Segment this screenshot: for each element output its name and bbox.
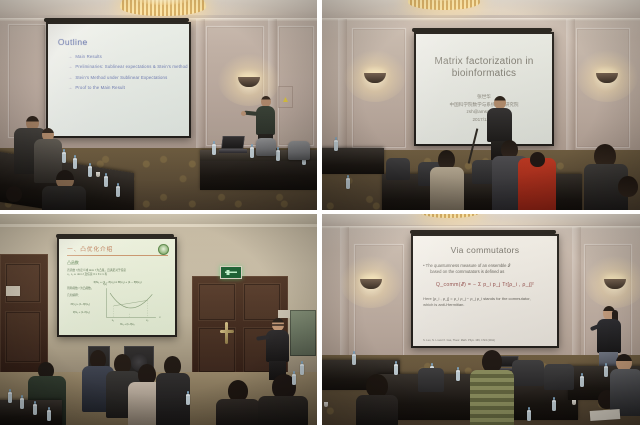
- slide-title: Via commutators: [423, 245, 547, 255]
- audience-member: [430, 150, 464, 210]
- graph-x-axis-label: x: [159, 316, 160, 319]
- water-bottle-icon: [73, 158, 77, 169]
- slide-bullet-text: Preliminaries: Sublinear expectations & …: [75, 64, 187, 69]
- chandelier-core: [421, 0, 467, 1]
- audience-member: [216, 380, 260, 425]
- water-bottle-icon: [527, 410, 531, 421]
- audience-member: [42, 170, 86, 210]
- audience-body: [42, 186, 86, 210]
- photo-panel-bottom-left[interactable]: 一、凸优化介绍 凸函数 若函数 f 的定义域 dom f 为凸集，且满足对于任意…: [0, 214, 317, 425]
- presenter-body: [256, 106, 275, 135]
- slide-subtitle: 凸函数: [67, 260, 168, 266]
- door-panel: [199, 328, 235, 372]
- audience-head: [6, 186, 22, 202]
- wall-sconce-icon: [594, 68, 620, 82]
- audience-member: [518, 152, 556, 210]
- slide-equation: Q_comm(𝓔) = − Σ p_i p_j Tr[ρ_i , ρ_j]²: [423, 282, 547, 289]
- photo-panel-top-left[interactable]: Outline →Main Results →Preliminaries: Su…: [0, 0, 317, 210]
- audience-member: [156, 356, 190, 425]
- audience-body: [470, 370, 514, 425]
- presenter-body: [266, 330, 289, 362]
- slide-bullet-text: Proof to the Main Result: [75, 85, 125, 90]
- arrow-icon: →: [68, 85, 72, 90]
- graph-tick-label: x₁: [112, 319, 114, 322]
- water-bottle-icon: [250, 147, 254, 158]
- laptop-screen: [221, 136, 245, 149]
- emergency-exit-sign-icon: [220, 266, 242, 279]
- water-bottle-icon: [20, 398, 24, 409]
- cup-icon: [572, 400, 576, 405]
- presenter-hand: [241, 111, 246, 116]
- water-bottle-icon: [186, 394, 190, 405]
- graph-point-label: θf(x₁) + (1−θ)f(x₂): [71, 303, 90, 306]
- ceiling-moulding: [322, 226, 640, 229]
- audience-head: [530, 152, 545, 167]
- conference-chair: [386, 158, 410, 180]
- water-bottle-icon: [580, 376, 584, 387]
- ceiling-moulding: [0, 224, 317, 227]
- graph-y-axis-label: f(x): [103, 283, 107, 286]
- arrow-icon: →: [68, 54, 72, 59]
- door-panel: [6, 264, 40, 302]
- slide-bullet: →Preliminaries: Sublinear expectations &…: [68, 64, 179, 69]
- laptop-icon: [222, 136, 244, 153]
- wall-sconce-icon: [602, 274, 628, 288]
- door-panel: [244, 284, 280, 320]
- slide-body-line: x₁, x₂ ∈ dom f 及任意 0 ≤ θ ≤ 1 有: [67, 273, 168, 277]
- water-bottle-icon: [212, 144, 216, 155]
- screen-surface: Outline →Main Results →Preliminaries: Su…: [48, 24, 189, 136]
- convex-curve-svg: [98, 287, 158, 323]
- audience-member: [0, 186, 36, 210]
- slide-bullet: →Main Results: [68, 54, 179, 59]
- ballroom-scene-matrix: Matrix factorization in bioinformatics 张…: [322, 0, 640, 210]
- slide-citation: S. Luo, N. Li and X. Cao, Theor. Math. P…: [423, 339, 495, 342]
- door-handle-icon: [225, 322, 228, 344]
- audience-body: [216, 399, 260, 425]
- audience-body: [258, 396, 308, 425]
- ballroom-scene-outline: Outline →Main Results →Preliminaries: Su…: [0, 0, 317, 210]
- arrow-icon: →: [68, 75, 72, 80]
- conference-table: [322, 148, 384, 174]
- water-bottle-icon: [47, 410, 51, 421]
- audience-body: [156, 373, 190, 425]
- audience-body: [430, 167, 464, 210]
- ballroom-scene-commutators: Via commutators • The quantumness measur…: [322, 214, 640, 425]
- audience-member: [258, 374, 308, 425]
- ceiling-cove-light: [341, 0, 621, 15]
- graph-tick-label: x₂: [146, 319, 148, 322]
- cup-icon: [96, 172, 100, 177]
- water-bottle-icon: [8, 392, 12, 403]
- audience-member: [610, 354, 640, 416]
- water-bottle-icon: [276, 150, 280, 161]
- wooden-wall-panel: [0, 254, 48, 374]
- laptop-base: [219, 149, 246, 153]
- slide-outline: Outline →Main Results →Preliminaries: Su…: [48, 24, 189, 136]
- convex-function-graph: f(x) x x₁ θx₁ + (1−θ)x₂ x₂: [98, 287, 158, 323]
- conference-chair: [512, 360, 544, 386]
- ceiling-cove-light: [341, 214, 621, 225]
- slide-bullet-text: Stein's Method under Sublinear Expectati…: [75, 75, 167, 80]
- water-bottle-icon: [116, 186, 120, 197]
- slide-bullet-text: based on the commutators is defined as: [430, 269, 504, 274]
- presenter-glasses-icon: [272, 324, 284, 326]
- conference-chair: [256, 138, 276, 156]
- audience-member: [470, 350, 514, 425]
- projection-screen: Outline →Main Results →Preliminaries: Su…: [46, 22, 191, 138]
- wall-notice: [6, 286, 20, 296]
- water-bottle-icon: [292, 374, 296, 385]
- audience-member: [356, 374, 398, 425]
- slide-title: 一、凸优化介绍: [67, 245, 168, 253]
- water-bottle-icon: [352, 354, 356, 365]
- audience-member: [614, 176, 640, 210]
- slide-bullet: →Stein's Method under Sublinear Expectat…: [68, 75, 179, 80]
- projection-screen: Via commutators • The quantumness measur…: [411, 234, 559, 348]
- conference-chair: [418, 368, 444, 392]
- slide-tail-line: which is anti-Hermitian.: [423, 302, 547, 308]
- notepad: [590, 409, 621, 421]
- slide-bullet-text: Main Results: [75, 54, 102, 59]
- screen-surface: Via commutators • The quantumness measur…: [413, 236, 557, 346]
- water-bottle-icon: [552, 400, 556, 411]
- door-panel: [199, 284, 235, 320]
- wall-cabinet: [290, 310, 316, 356]
- water-bottle-icon: [33, 404, 37, 415]
- photo-panel-bottom-right[interactable]: Via commutators • The quantumness measur…: [322, 214, 640, 425]
- water-bottle-icon: [456, 370, 460, 381]
- wall-sconce-icon: [362, 68, 388, 82]
- door-handle-icon: [220, 330, 234, 333]
- slide-bullet-text: The quantumness measure of an ensemble 𝓔: [426, 263, 510, 268]
- slide-bullet-line: based on the commutators is defined as: [423, 269, 547, 275]
- ceiling-moulding: [322, 18, 640, 21]
- chandelier-core: [135, 0, 190, 5]
- slide-via-commutators: Via commutators • The quantumness measur…: [413, 236, 557, 346]
- slide-bullet: →Proof to the Main Result: [68, 85, 179, 90]
- conference-chair: [288, 141, 310, 160]
- screen-surface: 一、凸优化介绍 凸函数 若函数 f 的定义域 dom f 为凸集，且满足对于任意…: [59, 239, 175, 335]
- door-panel: [6, 312, 40, 362]
- water-bottle-icon: [104, 176, 108, 187]
- projection-screen: 一、凸优化介绍 凸函数 若函数 f 的定义域 dom f 为凸集，且满足对于任意…: [57, 237, 177, 337]
- presenter-body: [487, 108, 512, 142]
- photo-panel-top-right[interactable]: Matrix factorization in bioinformatics 张…: [322, 0, 640, 210]
- audience-head: [618, 176, 638, 197]
- university-logo-icon: [158, 244, 169, 255]
- graph-tick-label: θx₁ + (1−θ)x₂: [120, 323, 134, 326]
- presenter: [264, 318, 292, 380]
- water-bottle-icon: [604, 366, 608, 377]
- cup-icon: [324, 402, 328, 407]
- wall-sconce-icon: [358, 274, 384, 288]
- photo-collage: Outline →Main Results →Preliminaries: Su…: [0, 0, 640, 425]
- graph-point-label: f(θx₁ + (1−θ)x₂): [73, 311, 90, 314]
- wall-sconce-icon: [236, 72, 262, 86]
- slide-title: Outline: [58, 37, 179, 47]
- slide-title: Matrix factorization in bioinformatics: [426, 56, 543, 80]
- arrow-icon: →: [68, 64, 72, 69]
- bullet-marker: •: [423, 263, 424, 268]
- conference-table: [0, 400, 62, 425]
- conference-chair: [544, 364, 574, 390]
- slide-equation: f(θx₁ + (1 − θ)x₂) ≤ θf(x₁) + (1 − θ)f(x…: [67, 280, 168, 284]
- audience-body: [356, 395, 398, 425]
- water-bottle-icon: [346, 178, 350, 189]
- water-bottle-icon: [334, 140, 338, 151]
- wall-sign: [278, 310, 290, 318]
- water-bottle-icon: [88, 166, 92, 177]
- title-underline: [67, 255, 168, 256]
- lecture-hall-scene: 一、凸优化介绍 凸函数 若函数 f 的定义域 dom f 为凸集，且满足对于任意…: [0, 214, 317, 425]
- water-bottle-icon: [300, 364, 304, 375]
- slide-convex-optimization: 一、凸优化介绍 凸函数 若函数 f 的定义域 dom f 为凸集，且满足对于任意…: [59, 239, 175, 335]
